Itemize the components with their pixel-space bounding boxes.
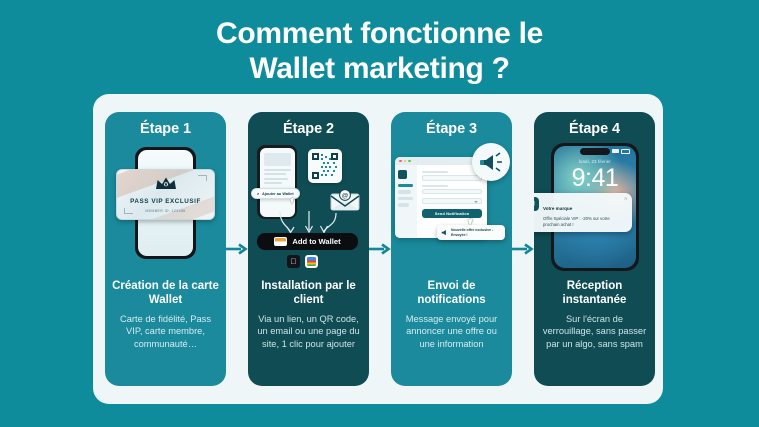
step-1-illustration: PASS VIP EXCLUSIF MEMBER ID: 123456 (105, 141, 226, 275)
arrow-1-to-2-icon (226, 112, 248, 386)
form-select-audience[interactable] (422, 198, 482, 204)
brand-logo-icon: U (534, 197, 539, 211)
toast-line-1: Nouvelle offre exclusive - (451, 228, 493, 232)
window-maximize-dot (408, 160, 411, 163)
megaphone-small-icon (441, 229, 448, 236)
step-4-description: Sur l'écran de verrouillage, sans passer… (534, 313, 655, 350)
card-name-label: PASS VIP EXCLUSIF (130, 198, 201, 205)
lock-screen-time: 9:41 (554, 164, 636, 193)
push-notification[interactable]: U Votre marque Offre Spéciale VIP : -20%… (534, 193, 632, 232)
page-title: Comment fonctionne le Wallet marketing ? (0, 16, 759, 87)
crown-icon (155, 176, 177, 196)
add-to-wallet-button[interactable]: Add to Wallet (257, 233, 358, 250)
phone-icon (257, 145, 297, 219)
card-corner-decoration (198, 175, 207, 181)
page-title-line-2: Wallet marketing ? (0, 51, 759, 86)
wallet-card-icon (274, 237, 287, 246)
notification-toast: Nouvelle offre exclusive - Envoyée ! (437, 225, 505, 240)
form-input-title[interactable] (422, 175, 482, 181)
step-2-illustration: Ajouter au Wallet (248, 141, 369, 275)
email-envelope-icon: @ (330, 189, 360, 211)
step-3-illustration: Send Notification Nouvelle off (391, 141, 512, 275)
step-card-4[interactable]: Étape 4 lundi, 23 février 9:41 U Votre m… (534, 112, 655, 386)
status-bar (612, 149, 630, 154)
send-notification-label: Send Notification (435, 211, 470, 216)
brand-logo-icon (398, 170, 407, 179)
arrow-3-to-4-icon (512, 112, 534, 386)
step-4-illustration: lundi, 23 février 9:41 U Votre marque Of… (534, 141, 655, 275)
phone-notch (580, 148, 610, 155)
notification-time: 7t (624, 197, 627, 201)
step-2-description: Via un lien, un QR code, un email ou une… (248, 313, 369, 350)
vip-wallet-card: PASS VIP EXCLUSIF MEMBER ID: 123456 (116, 169, 215, 220)
window-close-dot (399, 160, 402, 163)
browser-sidebar (395, 165, 417, 238)
steps-row: Étape 1 PASS VIP EXCLUSIF MEMBER ID: 123… (105, 112, 651, 386)
window-minimize-dot (404, 160, 407, 163)
step-1-label: Étape 1 (140, 121, 191, 137)
notification-title: Votre marque (543, 206, 572, 211)
step-3-title: Envoi de notifications (391, 279, 512, 307)
card-member-id: MEMBER ID: 123456 (145, 209, 185, 213)
wallet-badges:  (287, 255, 318, 268)
link-icon (256, 192, 260, 196)
step-2-title: Installation par le client (248, 279, 369, 307)
apple-wallet-badge-icon[interactable]:  (287, 255, 300, 268)
step-card-3[interactable]: Étape 3 (391, 112, 512, 386)
notification-body: Offre Spéciale VIP : -20% sur votre proc… (543, 216, 627, 228)
svg-text:@: @ (342, 193, 349, 200)
step-4-title: Réception instantanée (534, 279, 655, 307)
step-4-label: Étape 4 (569, 121, 620, 137)
step-2-label: Étape 2 (283, 121, 334, 137)
signal-icon (612, 149, 619, 153)
step-3-description: Message envoyé pour annoncer une offre o… (391, 313, 512, 350)
step-1-title: Création de la carte Wallet (105, 279, 226, 307)
step-card-2[interactable]: Étape 2 Ajouter au Wallet (248, 112, 369, 386)
battery-icon (621, 149, 630, 154)
step-card-1[interactable]: Étape 1 PASS VIP EXCLUSIF MEMBER ID: 123… (105, 112, 226, 386)
qr-code-icon (308, 149, 342, 183)
form-input-message[interactable] (422, 189, 482, 195)
arrow-2-to-3-icon (369, 112, 391, 386)
step-1-description: Carte de fidélité, Pass VIP, carte membr… (105, 313, 226, 350)
toast-line-2: Envoyée ! (451, 233, 468, 237)
flow-arrows-icon (276, 211, 342, 235)
add-to-wallet-inline-label: Ajouter au Wallet (262, 191, 294, 196)
page-title-line-1: Comment fonctionne le (216, 17, 543, 50)
megaphone-icon (472, 143, 510, 181)
card-corner-decoration (124, 208, 133, 214)
step-3-label: Étape 3 (426, 121, 477, 137)
google-wallet-badge-icon[interactable] (305, 255, 318, 268)
add-to-wallet-label: Add to Wallet (292, 237, 340, 246)
send-notification-button[interactable]: Send Notification (422, 209, 482, 218)
